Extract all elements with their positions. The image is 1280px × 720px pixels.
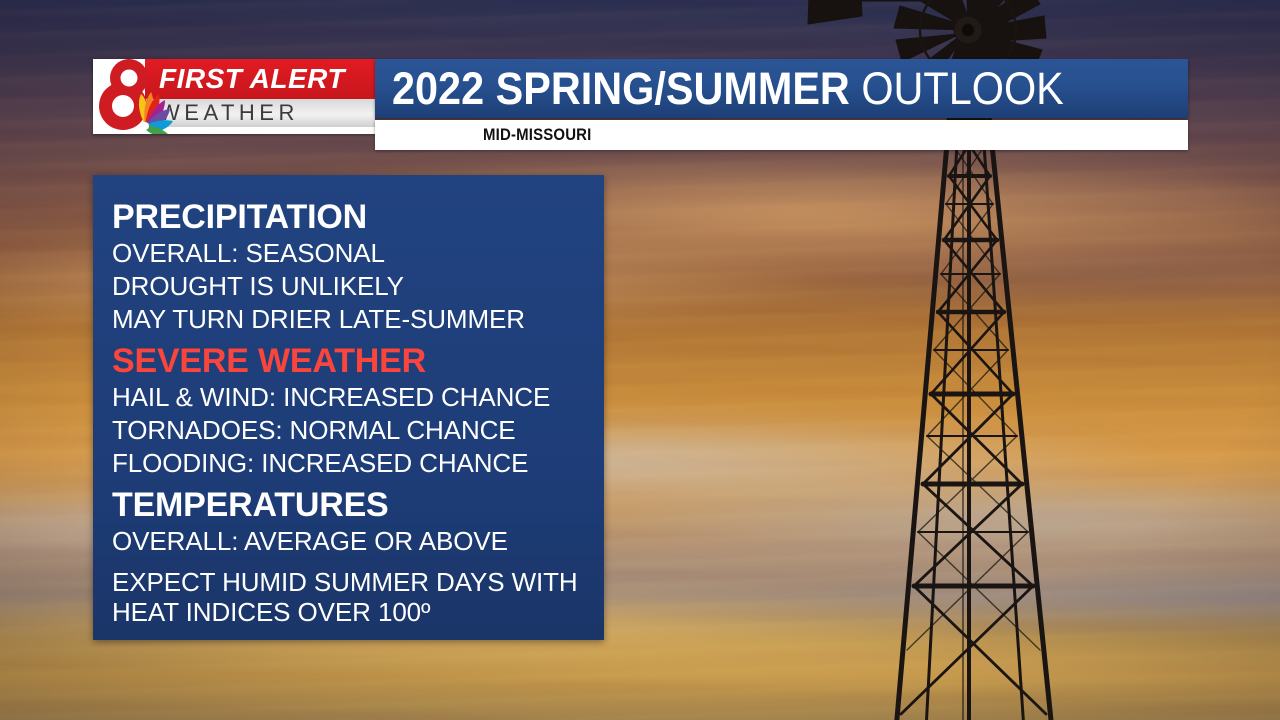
section-line: FLOODING: INCREASED CHANCE	[112, 447, 604, 480]
section-line: OVERALL: AVERAGE OR ABOVE	[112, 525, 604, 558]
section-line: HAIL & WIND: INCREASED CHANCE	[112, 381, 604, 414]
page-title: 2022 SPRING/SUMMER OUTLOOK	[392, 62, 1064, 116]
subtitle-bar: MID-MISSOURI	[375, 120, 1188, 150]
section-line: DROUGHT IS UNLIKELY	[112, 270, 604, 303]
station-logo: FIRST ALERT WEATHER	[93, 59, 375, 134]
outlook-panel: PRECIPITATION OVERALL: SEASONAL DROUGHT …	[93, 175, 604, 640]
section-severe-weather: SEVERE WEATHER HAIL & WIND: INCREASED CH…	[112, 341, 604, 480]
section-temperatures: TEMPERATURES OVERALL: AVERAGE OR ABOVE E…	[112, 485, 604, 627]
section-heading: TEMPERATURES	[112, 485, 604, 525]
region-label: MID-MISSOURI	[483, 124, 592, 146]
first-alert-label: FIRST ALERT	[159, 63, 345, 95]
title-main: 2022 SPRING/SUMMER	[392, 63, 850, 114]
section-heading: PRECIPITATION	[112, 197, 604, 237]
section-line: MAY TURN DRIER LATE-SUMMER	[112, 303, 604, 336]
nbc-peacock-icon	[93, 59, 185, 134]
weather-graphic-stage: FIRST ALERT WEATHER	[0, 0, 1280, 720]
title-bar: 2022 SPRING/SUMMER OUTLOOK	[375, 59, 1188, 118]
section-line: TORNADOES: NORMAL CHANCE	[112, 414, 604, 447]
section-precipitation: PRECIPITATION OVERALL: SEASONAL DROUGHT …	[112, 197, 604, 336]
graphic-header: FIRST ALERT WEATHER	[93, 59, 1188, 151]
title-light: OUTLOOK	[850, 63, 1064, 114]
section-line: EXPECT HUMID SUMMER DAYS WITH	[112, 567, 604, 597]
line-spacer	[112, 558, 604, 567]
section-line: OVERALL: SEASONAL	[112, 237, 604, 270]
section-line: HEAT INDICES OVER 100º	[112, 597, 604, 627]
section-heading: SEVERE WEATHER	[112, 341, 604, 381]
